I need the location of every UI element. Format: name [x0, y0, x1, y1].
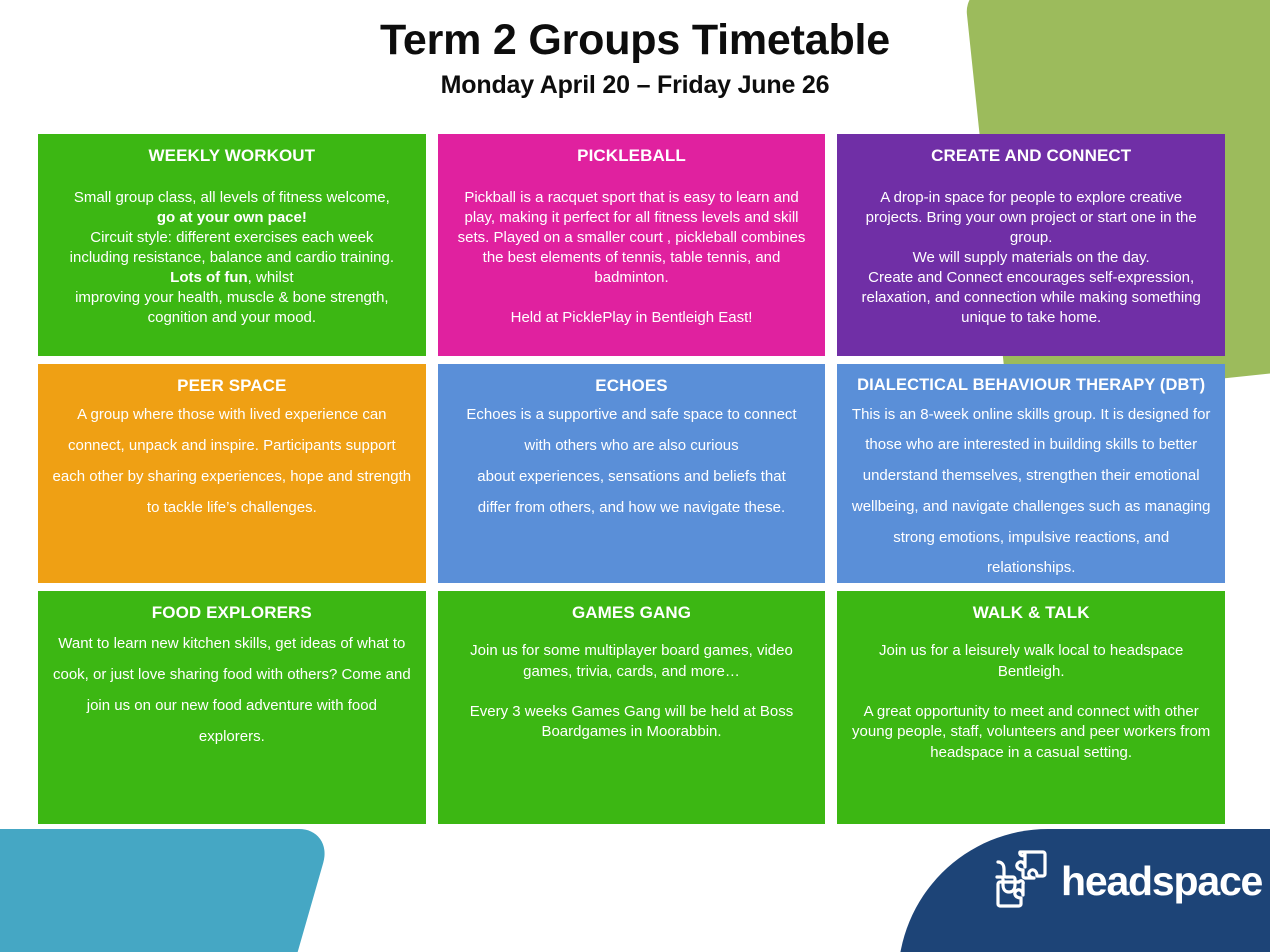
- group-card-body: A drop-in space for people to explore cr…: [851, 166, 1211, 328]
- group-card-food-explorers[interactable]: FOOD EXPLORERS Want to learn new kitchen…: [38, 591, 426, 824]
- decorative-shape-teal-bottom-left: [0, 829, 333, 952]
- groups-grid: WEEKLY WORKOUT Small group class, all le…: [38, 134, 1225, 832]
- group-card-body: Join us for a leisurely walk local to he…: [851, 623, 1211, 763]
- group-card-body: A group where those with lived experienc…: [52, 396, 412, 523]
- group-card-walk-and-talk[interactable]: WALK & TALK Join us for a leisurely walk…: [837, 591, 1225, 824]
- group-card-body: This is an 8-week online skills group. I…: [851, 396, 1211, 583]
- grid-row-1: WEEKLY WORKOUT Small group class, all le…: [38, 134, 1225, 356]
- group-card-body: Small group class, all levels of fitness…: [52, 166, 412, 328]
- decorative-shape-teal-bottom-left-base: [0, 829, 220, 952]
- group-card-peer-space[interactable]: PEER SPACE A group where those with live…: [38, 364, 426, 583]
- group-card-body: Pickball is a racquet sport that is easy…: [452, 166, 812, 328]
- group-card-create-and-connect[interactable]: CREATE AND CONNECT A drop-in space for p…: [837, 134, 1225, 356]
- group-card-body: Join us for some multiplayer board games…: [452, 623, 812, 742]
- group-card-dialectical-behaviour-therapy[interactable]: DIALECTICAL BEHAVIOUR THERAPY (DBT) This…: [837, 364, 1225, 583]
- grid-row-3: FOOD EXPLORERS Want to learn new kitchen…: [38, 591, 1225, 824]
- group-card-title: GAMES GANG: [452, 602, 812, 623]
- page-title: Term 2 Groups Timetable: [0, 0, 1270, 65]
- group-card-title: DIALECTICAL BEHAVIOUR THERAPY (DBT): [851, 375, 1211, 396]
- poster-header: Term 2 Groups Timetable Monday April 20 …: [0, 0, 1270, 100]
- group-card-body: Want to learn new kitchen skills, get id…: [52, 623, 412, 752]
- headspace-puzzle-mark-icon: [993, 848, 1049, 915]
- group-card-body: Echoes is a supportive and safe space to…: [452, 396, 812, 523]
- group-card-weekly-workout[interactable]: WEEKLY WORKOUT Small group class, all le…: [38, 134, 426, 356]
- group-card-echoes[interactable]: ECHOES Echoes is a supportive and safe s…: [438, 364, 826, 583]
- grid-row-2: PEER SPACE A group where those with live…: [38, 364, 1225, 583]
- group-card-title: WALK & TALK: [851, 602, 1211, 623]
- group-card-title: CREATE AND CONNECT: [851, 145, 1211, 166]
- group-card-title: WEEKLY WORKOUT: [52, 145, 412, 166]
- headspace-wordmark: headspace: [1061, 861, 1262, 902]
- group-card-title: PEER SPACE: [52, 375, 412, 396]
- group-card-games-gang[interactable]: GAMES GANG Join us for some multiplayer …: [438, 591, 826, 824]
- page-subtitle: Monday April 20 – Friday June 26: [0, 65, 1270, 100]
- group-card-title: FOOD EXPLORERS: [52, 602, 412, 623]
- group-card-title: ECHOES: [452, 375, 812, 396]
- group-card-pickleball[interactable]: PICKLEBALL Pickball is a racquet sport t…: [438, 134, 826, 356]
- headspace-logo: headspace: [993, 848, 1262, 915]
- poster-canvas: Term 2 Groups Timetable Monday April 20 …: [0, 0, 1270, 952]
- group-card-title: PICKLEBALL: [452, 145, 812, 166]
